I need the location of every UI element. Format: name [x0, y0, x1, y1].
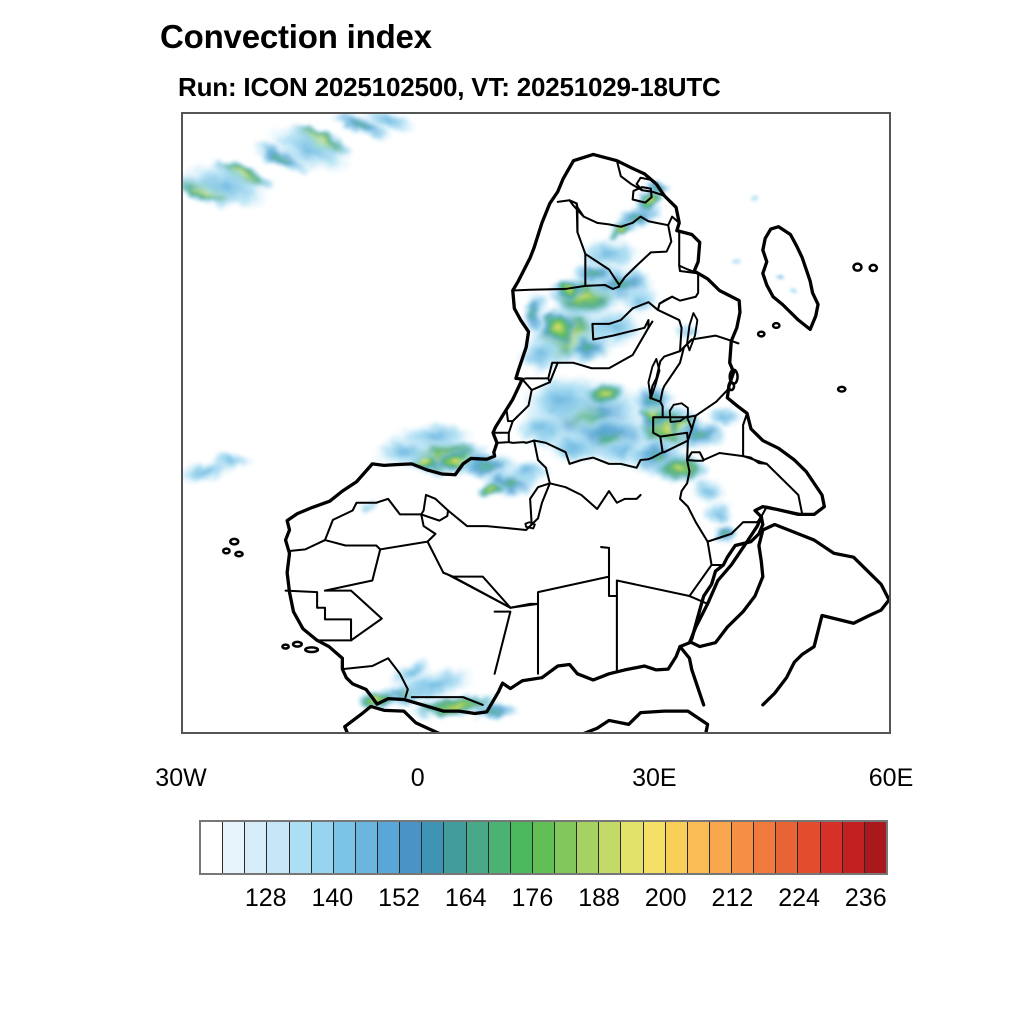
y-tick	[181, 425, 183, 427]
colorbar-cell	[555, 822, 577, 873]
colorbar-tick-label: 140	[311, 884, 353, 913]
page-title: Convection index	[160, 18, 432, 56]
colorbar-cell	[290, 822, 312, 873]
colorbar-cell	[666, 822, 688, 873]
colorbar-tick-label: 200	[645, 884, 687, 913]
colorbar-cell	[356, 822, 378, 873]
colorbar-cell	[378, 822, 400, 873]
colorbar-cell	[776, 822, 798, 873]
colorbar-cell	[444, 822, 466, 873]
colorbar-cell	[223, 822, 245, 873]
colorbar-cell	[732, 822, 754, 873]
colorbar-cell	[334, 822, 356, 873]
map-plot-area	[181, 112, 891, 734]
y-tick	[181, 192, 183, 194]
colorbar-gradient[interactable]	[199, 820, 888, 875]
x-tick-label: 30E	[632, 764, 676, 793]
colorbar-cell	[422, 822, 444, 873]
colorbar-cell	[688, 822, 710, 873]
colorbar-cell	[267, 822, 289, 873]
colorbar-cell	[312, 822, 334, 873]
colorbar-cell	[621, 822, 643, 873]
feature-atlantic-itcz	[183, 451, 254, 490]
colorbar-cell	[511, 822, 533, 873]
x-tick-label: 30W	[155, 764, 206, 793]
colorbar-cell	[400, 822, 422, 873]
y-tick	[181, 347, 183, 349]
x-tick-label: 0	[411, 764, 425, 793]
levant-coastline	[680, 647, 704, 705]
colorbar-cell	[821, 822, 843, 873]
colorbar-cell	[843, 822, 865, 873]
africa-convection-map	[183, 114, 891, 734]
figure-canvas: Convection index Run: ICON 2025102500, V…	[0, 0, 1024, 1024]
page-subtitle: Run: ICON 2025102500, VT: 20251029-18UTC	[178, 72, 721, 103]
colorbar-tick-label: 188	[578, 884, 620, 913]
indian-ocean-islands	[729, 264, 877, 392]
atlantic-islands	[223, 539, 318, 652]
colorbar-tick-label: 236	[845, 884, 887, 913]
colorbar-tick-label: 176	[512, 884, 554, 913]
colorbar-cell	[644, 822, 666, 873]
colorbar-cell	[599, 822, 621, 873]
y-tick	[181, 114, 183, 116]
y-tick	[181, 581, 183, 583]
feature-east-african-rift	[625, 383, 743, 546]
colorbar-tick-label: 212	[712, 884, 754, 913]
convection-field	[183, 114, 794, 724]
colorbar-cell	[710, 822, 732, 873]
colorbar-cell	[467, 822, 489, 873]
colorbar-cell	[201, 822, 223, 873]
y-tick	[181, 270, 183, 272]
colorbar-cell	[245, 822, 267, 873]
colorbar-cell	[754, 822, 776, 873]
x-tick-label: 60E	[869, 764, 913, 793]
colorbar-tick-label: 152	[378, 884, 420, 913]
y-tick	[181, 658, 183, 660]
y-tick	[181, 503, 183, 505]
arabia-coastline	[692, 525, 889, 705]
colorbar-cell	[577, 822, 599, 873]
colorbar-tick-label: 164	[445, 884, 487, 913]
colorbar[interactable]	[199, 820, 888, 875]
colorbar-tick-label: 224	[778, 884, 820, 913]
feature-south-atlantic-front	[183, 114, 422, 221]
colorbar-cell	[798, 822, 820, 873]
greece-turkey-coastline	[577, 711, 707, 734]
madagascar-coastline	[763, 227, 818, 330]
colorbar-cell	[533, 822, 555, 873]
colorbar-cell	[865, 822, 886, 873]
colorbar-tick-label: 128	[245, 884, 287, 913]
colorbar-cell	[489, 822, 511, 873]
